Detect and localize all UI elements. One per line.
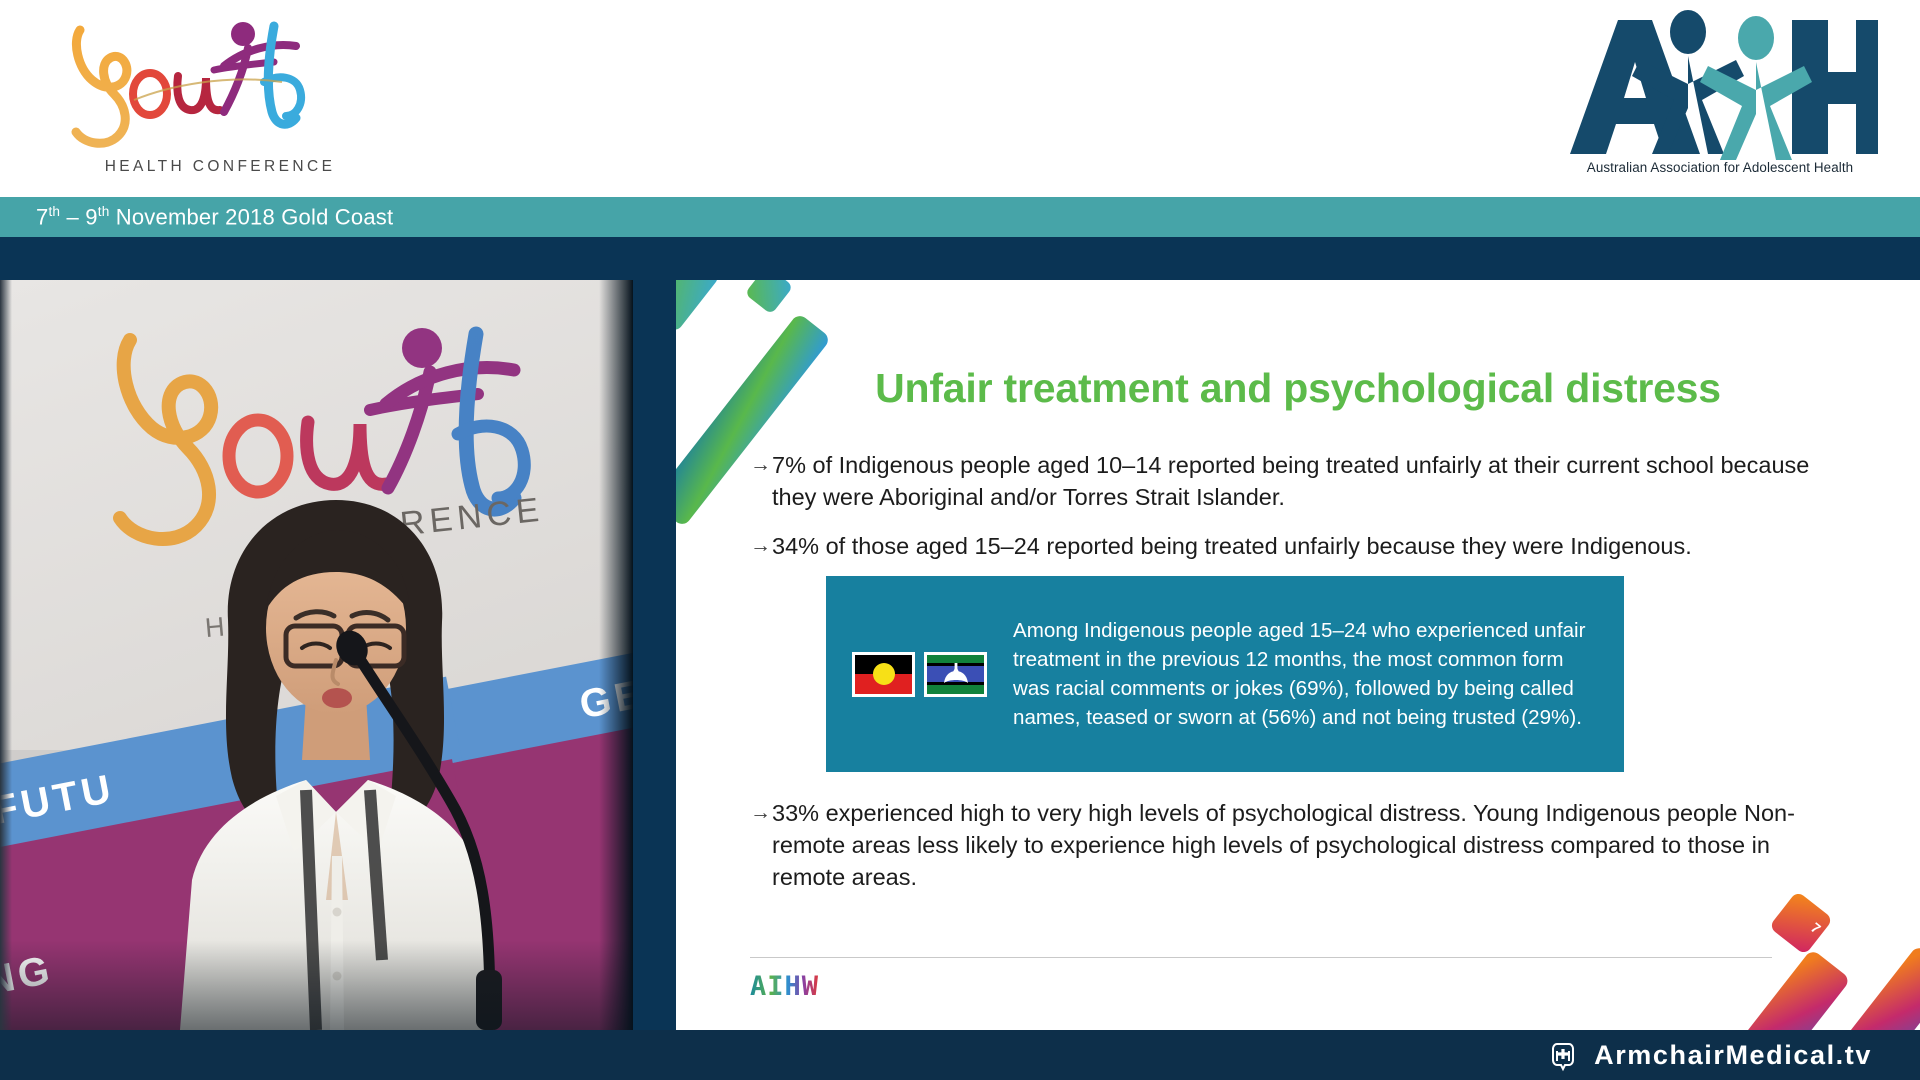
slide-footer-divider <box>750 957 1772 958</box>
bullet-text: 34% of those aged 15–24 reported being t… <box>772 531 1840 563</box>
brand-name: ArmchairMedical.tv <box>1594 1040 1872 1071</box>
video-bottom-shadow <box>0 940 633 1030</box>
youth-script-icon <box>38 8 358 156</box>
aaah-tagline: Australian Association for Adolescent He… <box>1560 160 1880 175</box>
armchair-medical-cross-icon <box>1546 1038 1580 1072</box>
date-dash: – <box>60 204 85 229</box>
aboriginal-flag-icon <box>852 652 915 697</box>
list-item: → 33% experienced high to very high leve… <box>750 798 1840 894</box>
flags-group <box>852 652 987 697</box>
list-item: → 7% of Indigenous people aged 10–14 rep… <box>750 450 1840 514</box>
aihw-logo-icon: AIHW <box>750 970 870 1002</box>
video-right-edge <box>599 280 633 1030</box>
date-day-from-suffix: th <box>48 204 60 219</box>
date-day-to: 9 <box>85 204 97 229</box>
slide-bullet-list: → 7% of Indigenous people aged 10–14 rep… <box>750 450 1840 580</box>
bullet-arrow-icon: → <box>750 798 772 828</box>
bullet-arrow-icon: → <box>750 531 772 561</box>
youth-health-conference-logo: HEALTH CONFERENCE <box>38 8 358 188</box>
svg-text:AIHW: AIHW <box>750 971 819 1002</box>
date-day-from: 7 <box>36 204 48 229</box>
date-rest: November 2018 Gold Coast <box>109 204 393 229</box>
video-left-edge <box>0 280 12 1030</box>
aaah-logo: Australian Association for Adolescent He… <box>1560 4 1880 194</box>
navy-divider-band <box>0 237 1920 280</box>
slide-bullet-list-lower: → 33% experienced high to very high leve… <box>750 798 1840 911</box>
branding-bar: ArmchairMedical.tv <box>0 1030 1920 1080</box>
header-banner: HEALTH CONFERENCE Australian Association… <box>0 0 1920 197</box>
callout-text: Among Indigenous people aged 15–24 who e… <box>1013 616 1602 733</box>
bullet-arrow-icon: → <box>750 450 772 480</box>
bullet-text: 33% experienced high to very high levels… <box>772 798 1840 894</box>
list-item: → 34% of those aged 15–24 reported being… <box>750 531 1840 563</box>
torres-strait-islander-flag-icon <box>924 652 987 697</box>
bullet-text: 7% of Indigenous people aged 10–14 repor… <box>772 450 1840 514</box>
conference-logo-subtitle: HEALTH CONFERENCE <box>90 158 350 176</box>
conference-date-bar: 7th – 9th November 2018 Gold Coast <box>0 197 1920 237</box>
content-stage: RENCE HEA GE FUTU NG <box>0 280 1920 1030</box>
presentation-viewer: HEALTH CONFERENCE Australian Association… <box>0 0 1920 1080</box>
backdrop-banner-mid-text: FUTU <box>0 766 118 834</box>
speaker-video-panel[interactable]: RENCE HEA GE FUTU NG <box>0 280 633 1030</box>
date-day-to-suffix: th <box>98 204 110 219</box>
conference-date-text: 7th – 9th November 2018 Gold Coast <box>36 204 393 230</box>
slide-title: Unfair treatment and psychological distr… <box>676 365 1920 412</box>
callout-box: Among Indigenous people aged 15–24 who e… <box>826 576 1624 772</box>
aaah-people-icon <box>1560 4 1880 164</box>
armchair-medical-brand[interactable]: ArmchairMedical.tv <box>1546 1030 1872 1080</box>
slide-panel[interactable]: 7 Unfair treatment and psychological dis… <box>676 280 1920 1030</box>
